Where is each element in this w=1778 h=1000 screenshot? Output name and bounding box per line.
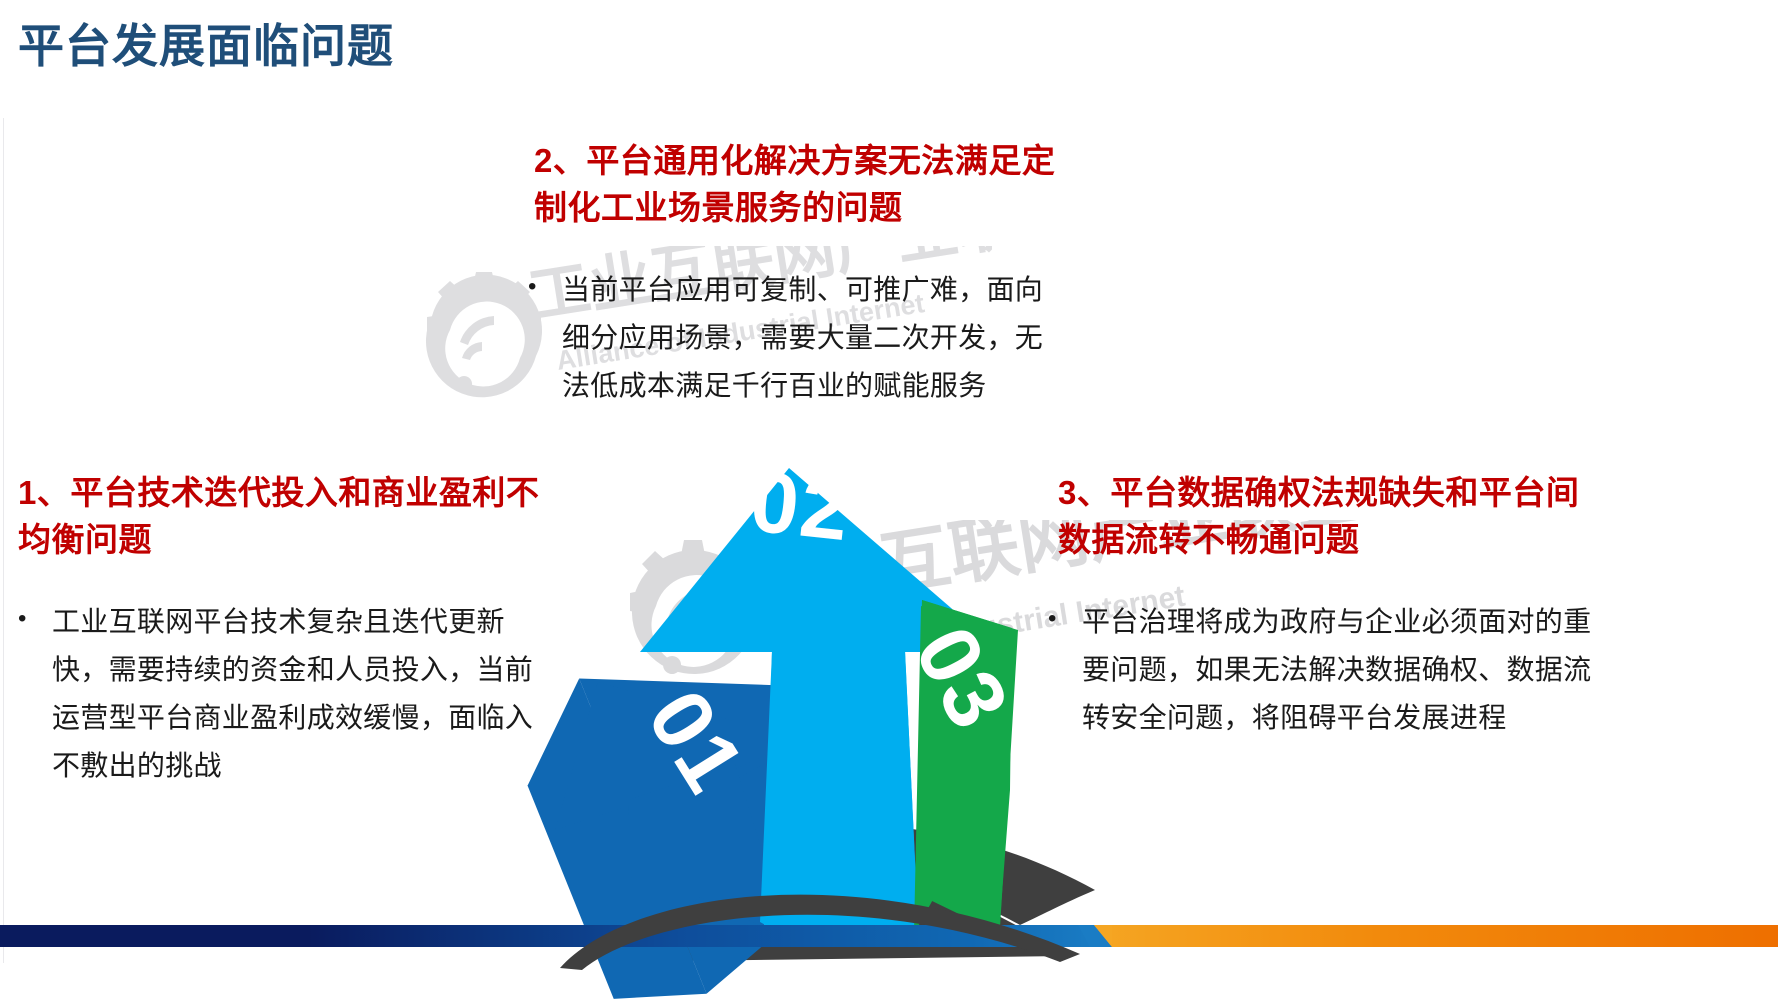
page-title: 平台发展面临问题 (18, 20, 394, 73)
gear-wifi-icon (426, 272, 542, 397)
footer-bar-orange (1090, 925, 1778, 947)
gear-wifi-icon-2 (630, 540, 756, 674)
arrow-label-03: 03 (896, 612, 1028, 745)
bullet-icon: • (528, 266, 562, 307)
problem-2-heading: 2、平台通用化解决方案无法满足定制化工业场景服务的问题 (528, 138, 1068, 232)
problem-3-body-text: 平台治理将成为政府与企业必须面对的重要问题，如果无法解决数据确权、数据流转安全问… (1082, 598, 1608, 742)
arrow-02-shape (640, 468, 1002, 938)
left-edge-rule (3, 118, 4, 963)
arrow-label-01: 01 (629, 674, 763, 809)
slide-canvas: 平台发展面临问题 工业互联网产业联盟 Alliance of Industria… (0, 0, 1778, 1000)
problem-block-3: 3、平台数据确权法规缺失和平台间数据流转不畅通问题 • 平台治理将成为政府与企业… (1048, 470, 1608, 742)
dark-arc-overlap (560, 880, 1120, 970)
bullet-icon: • (1048, 598, 1082, 639)
problem-block-1: 1、平台技术迭代投入和商业盈利不均衡问题 • 工业互联网平台技术复杂且迭代更新快… (18, 470, 558, 790)
problem-1-body: • 工业互联网平台技术复杂且迭代更新快，需要持续的资金和人员投入，当前运营型平台… (18, 598, 558, 791)
problem-2-body-text: 当前平台应用可复制、可推广难，面向细分应用场景，需要大量二次开发，无法低成本满足… (562, 266, 1068, 410)
problem-2-body: • 当前平台应用可复制、可推广难，面向细分应用场景，需要大量二次开发，无法低成本… (528, 266, 1068, 410)
problem-3-heading: 3、平台数据确权法规缺失和平台间数据流转不畅通问题 (1048, 470, 1608, 564)
problem-1-heading: 1、平台技术迭代投入和商业盈利不均衡问题 (18, 470, 558, 564)
problem-block-2: 2、平台通用化解决方案无法满足定制化工业场景服务的问题 • 当前平台应用可复制、… (528, 138, 1068, 410)
problem-1-body-text: 工业互联网平台技术复杂且迭代更新快，需要持续的资金和人员投入，当前运营型平台商业… (52, 598, 558, 791)
arrow-01-head (596, 684, 802, 828)
bullet-icon: • (18, 598, 52, 639)
arrow-label-02: 02 (746, 453, 855, 559)
problem-3-body: • 平台治理将成为政府与企业必须面对的重要问题，如果无法解决数据确权、数据流转安… (1048, 598, 1608, 742)
